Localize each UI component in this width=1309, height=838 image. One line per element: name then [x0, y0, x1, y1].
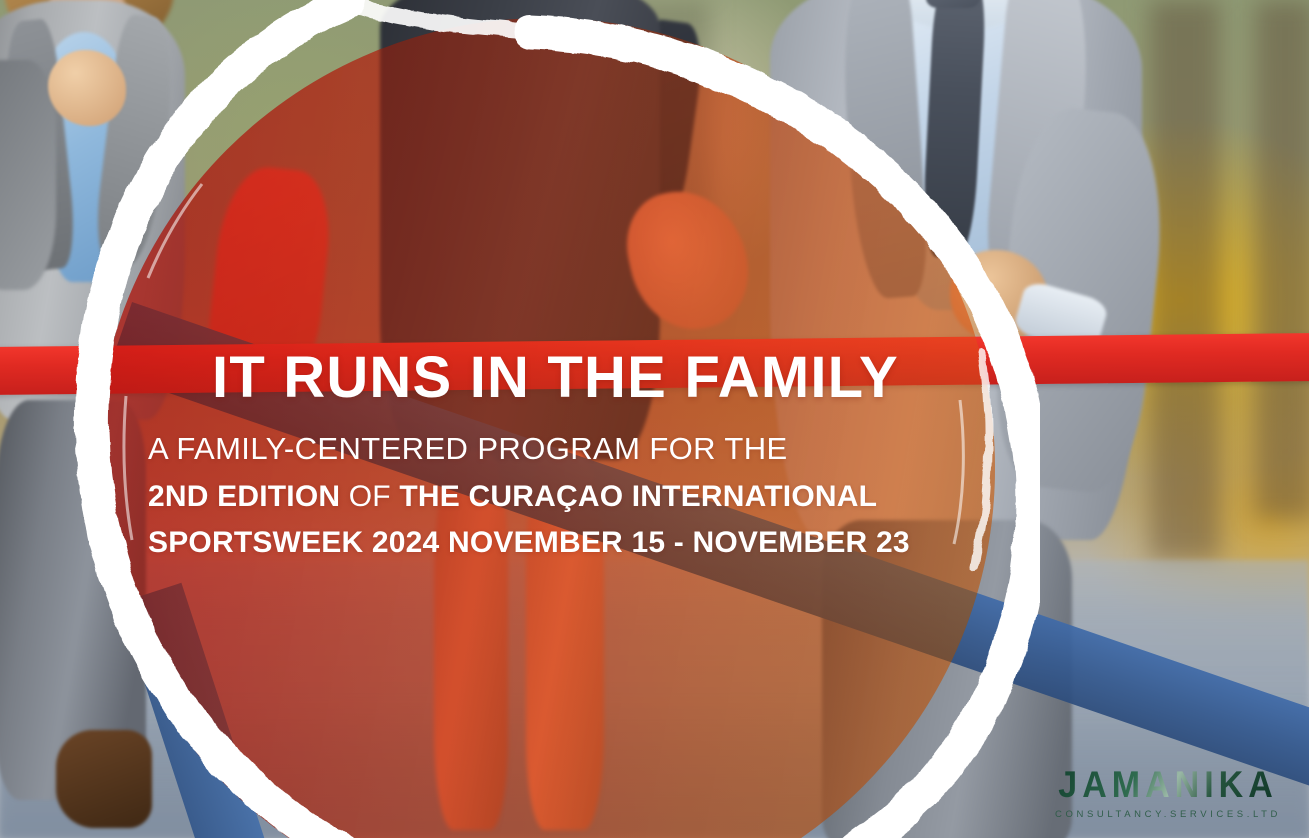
tree-trunk-blur-2 — [1255, 0, 1309, 520]
page-title: IT RUNS IN THE FAMILY — [212, 348, 968, 407]
subtitle-edition: 2ND EDITION — [148, 480, 340, 513]
poster-text-block: IT RUNS IN THE FAMILY A FAMILY-CENTERED … — [148, 348, 968, 560]
subtitle-line-2: 2ND EDITION OF THE CURAÇAO INTERNATIONAL — [148, 480, 968, 514]
logo-tagline: CONSULTANCY.SERVICES.LTD — [1055, 809, 1281, 820]
subtitle-of: OF — [340, 480, 399, 513]
subtitle-line-1: A FAMILY-CENTERED PROGRAM FOR THE — [148, 431, 968, 467]
jamanika-logo: JAMANIKA CONSULTANCY.SERVICES.LTD — [1055, 766, 1281, 820]
poster-canvas: IT RUNS IN THE FAMILY A FAMILY-CENTERED … — [0, 0, 1309, 838]
logo-wordmark: JAMANIKA — [1055, 764, 1281, 806]
subtitle-event-name: THE CURAÇAO INTERNATIONAL — [399, 480, 877, 513]
subtitle-line-3: SPORTSWEEK 2024 NOVEMBER 15 - NOVEMBER 2… — [148, 526, 968, 560]
